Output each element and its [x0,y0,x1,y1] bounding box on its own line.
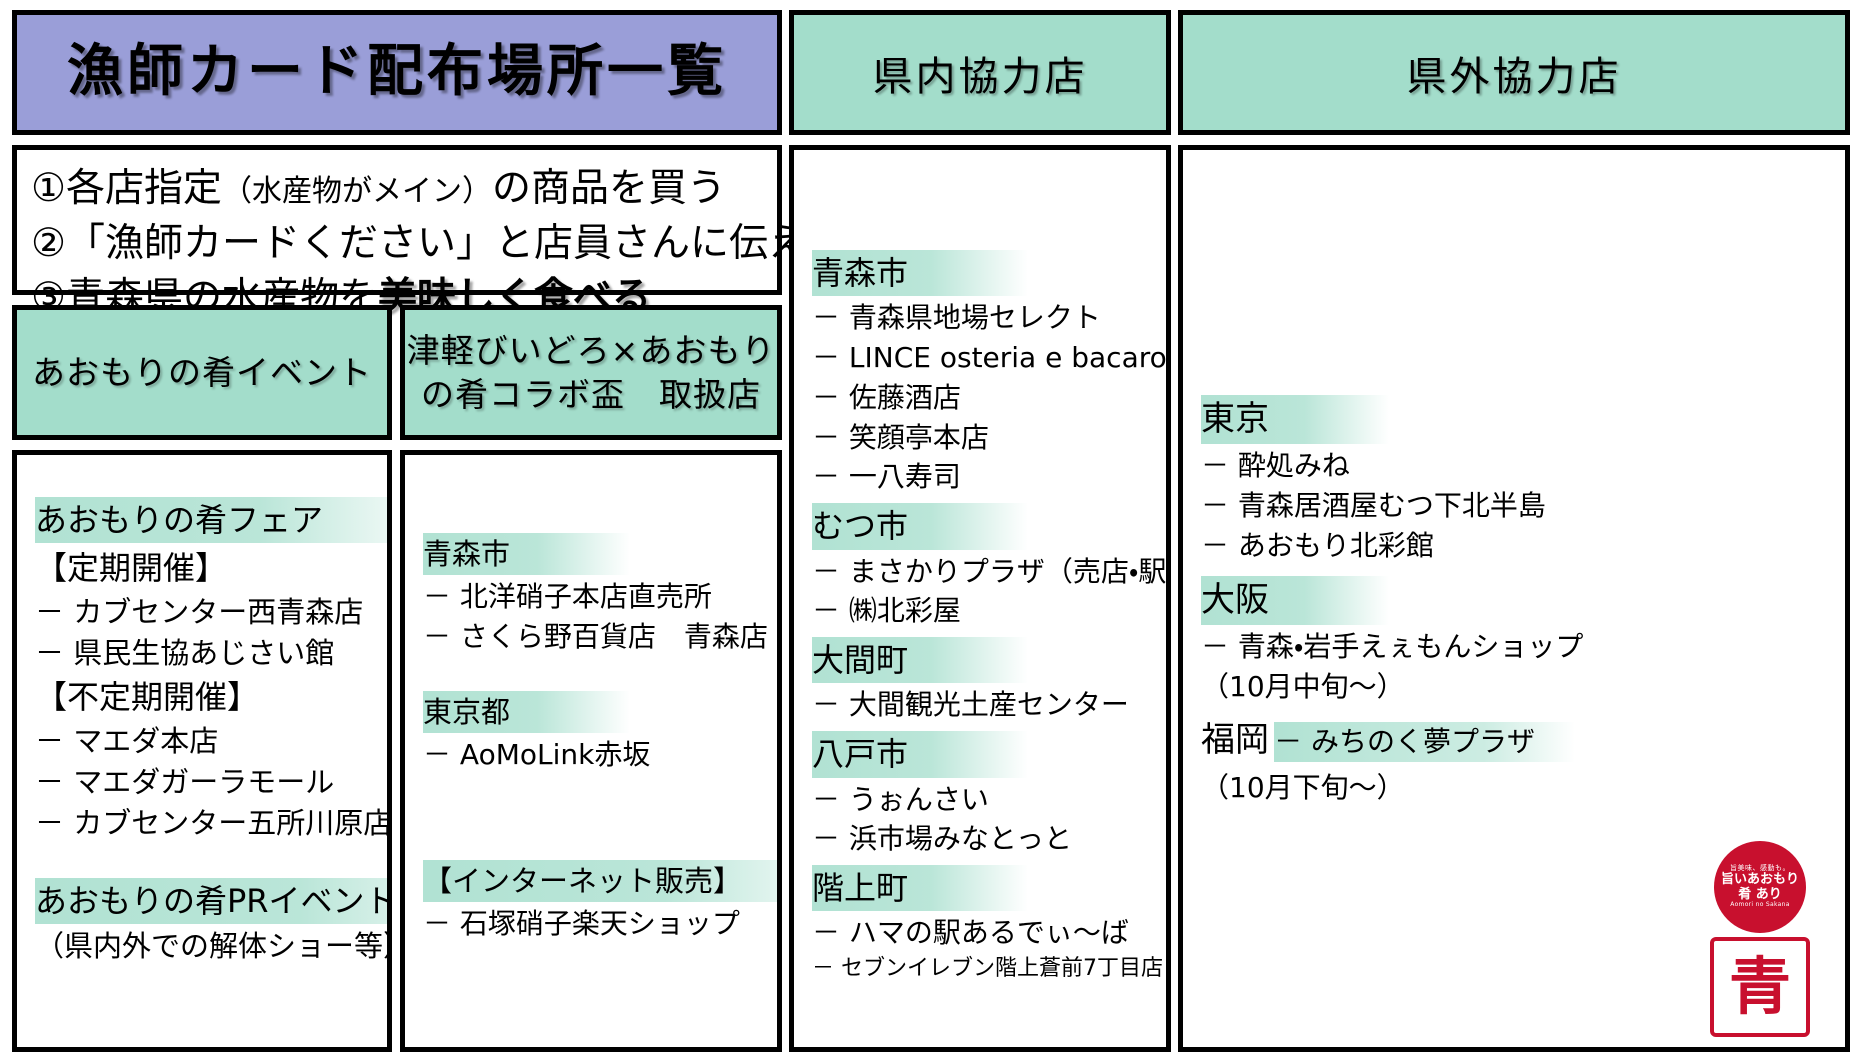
group-title: 青森市 [423,533,630,575]
spacer [423,826,759,860]
instruction-step-2: ②「漁師カードください」と店員さんに伝える [31,217,763,272]
event-fair-group: あおもりの肴フェア 【定期開催】 － カブセンター西青森店 － 県民生協あじさい… [35,497,369,844]
outpref-group-osaka: 大阪 － 青森・岩手えぇもんショップ （10月中旬～） [1201,576,1827,707]
subheader-glass-collab-label: 津軽びいどろ×あおもり の肴コラボ盃 取扱店 [407,329,776,416]
list-item: － カブセンター西青森店 [35,592,369,633]
inpref-group-hachinohe-city: 八戸市 － うぉんさい － 浜市場みなとっと [812,731,1148,859]
subheader-glass-line-2: の肴コラボ盃 取扱店 [421,375,761,414]
list-item: － 石塚硝子楽天ショップ [423,904,759,944]
list-item: － AoMoLink赤坂 [423,735,759,775]
inpref-group-mutsu-city: むつ市 － まさかりプラザ（売店・駅前店） － ㈱北彩屋 [812,503,1148,631]
group-title: 東京 [1201,395,1389,444]
panel-glass-collab-shops: 青森市 － 北洋硝子本店直売所 － さくら野百貨店 青森店 東京都 － AoMo… [400,450,782,1052]
spacer [423,657,759,691]
inpref-group-hashikami-town: 階上町 － ハマの駅あるでぃ～ば － セブンイレブン階上蒼前7丁目店 [812,865,1148,984]
outpref-group-fukuoka: 福岡 － みちのく夢プラザ （10月下旬～） [1201,716,1827,807]
column-header-in-prefecture-label: 県内協力店 [873,44,1088,102]
group-title: 東京都 [423,691,630,733]
step-2-text: 「漁師カードください」と店員さんに伝える [66,221,845,266]
event-irregular-label: 【不定期開催】 [35,674,369,720]
group-title: 大間町 [812,637,1028,683]
list-item: － カブセンター五所川原店 [35,803,369,844]
list-item: － セブンイレブン階上蒼前7丁目店 [812,953,1148,984]
list-item: － 青森・岩手えぇもんショップ [1201,627,1827,667]
list-item: － みちのく夢プラザ [1274,722,1575,762]
list-item: － まさかりプラザ（売店・駅前店） [812,552,1148,592]
list-item: － マエダ本店 [35,721,369,762]
list-item: － 浜市場みなとっと [812,819,1148,859]
page-title: 漁師カード配布場所一覧 [12,10,782,135]
outpref-osaka-note: （10月中旬～） [1201,667,1827,707]
subheader-event: あおもりの肴イベント [12,305,392,440]
seal-kanji: 青 [1714,941,1806,1033]
list-item: － マエダガーラモール 等 [35,762,369,803]
panel-in-prefecture-shops: 青森市 － 青森県地場セレクト － LINCE osteria e bacaro… [789,145,1171,1052]
outpref-group-tokyo: 東京 － 酔処みね － 青森居酒屋むつ下北半島 － あおもり北彩館 [1201,395,1827,566]
column-header-in-prefecture: 県内協力店 [789,10,1171,135]
list-item: － ハマの駅あるでぃ～ば [812,913,1148,953]
list-item: － 佐藤酒店 [812,378,1148,418]
inpref-group-aomori-city: 青森市 － 青森県地場セレクト － LINCE osteria e bacaro… [812,250,1148,497]
panel-out-of-prefecture-shops: 東京 － 酔処みね － 青森居酒屋むつ下北半島 － あおもり北彩館 大阪 － 青… [1178,145,1850,1052]
event-pr-group: あおもりの肴PRイベント （県内外での解体ショー等） [35,878,369,968]
logo-line-4: Aomori no Sakana [1730,902,1789,909]
glass-group-internet: 【インターネット販売】 － 石塚硝子楽天ショップ [423,860,759,944]
subheader-glass-line-1: 津軽びいどろ×あおもり [407,331,776,370]
spacer [35,844,369,878]
list-item: － 一八寿司 [812,457,1148,497]
list-item: － 北洋硝子本店直売所 [423,577,759,617]
list-item: － あおもり北彩館 [1201,526,1827,566]
event-regular-label: 【定期開催】 [35,545,369,591]
step-1-number: ① [31,166,66,211]
list-item: － ㈱北彩屋 [812,591,1148,631]
outpref-fukuoka-note: （10月下旬～） [1201,768,1827,808]
glass-group-aomori-city: 青森市 － 北洋硝子本店直売所 － さくら野百貨店 青森店 [423,533,759,657]
glass-group-tokyo: 東京都 － AoMoLink赤坂 [423,691,759,775]
list-item: － うぉんさい [812,780,1148,820]
glass-internet-label: 【インターネット販売】 [423,860,782,902]
column-header-out-prefecture: 県外協力店 [1178,10,1850,135]
list-item: － 笑顔亭本店 [812,418,1148,458]
subheader-event-label: あおもりの肴イベント [32,351,372,395]
spacer [423,774,759,826]
group-title: 福岡 [1201,716,1269,765]
poster-root: 漁師カード配布場所一覧 県内協力店 県外協力店 ①各店指定（水産物がメイン）の商… [0,0,1861,1063]
list-item: － 県民生協あじさい館 [35,633,369,674]
group-title: 八戸市 [812,731,1028,777]
umai-aomori-logo-icon: 旨美味、感動も。 旨いあおもり 肴 あり Aomori no Sakana [1714,841,1806,933]
step-1-paren: （水産物がメイン） [222,174,492,209]
event-fair-title: あおもりの肴フェア [35,497,392,543]
list-item: － 青森県地場セレクト [812,298,1148,338]
group-title: 大阪 [1201,576,1389,625]
subheader-glass-collab: 津軽びいどろ×あおもり の肴コラボ盃 取扱店 [400,305,782,440]
list-item: － 酔処みね [1201,446,1827,486]
instructions-panel: ①各店指定（水産物がメイン）の商品を買う ②「漁師カードください」と店員さんに伝… [12,145,782,295]
list-item: － LINCE osteria e bacaro [812,338,1148,378]
instruction-step-1: ①各店指定（水産物がメイン）の商品を買う [31,162,763,217]
list-item: － 青森居酒屋むつ下北半島 [1201,486,1827,526]
list-item: － 大間観光土産センター [812,685,1148,725]
brand-logo: 旨美味、感動も。 旨いあおもり 肴 あり Aomori no Sakana 青 [1697,841,1823,1037]
list-item: － さくら野百貨店 青森店 [423,617,759,657]
group-title: むつ市 [812,503,1028,549]
step-1-text-b: の商品を買う [492,166,726,211]
event-pr-note: （県内外での解体ショー等） [35,926,369,967]
main-title-text: 漁師カード配布場所一覧 [67,40,727,104]
logo-line-2: 旨いあおもり [1721,873,1799,888]
event-pr-title: あおもりの肴PRイベント [35,878,392,924]
inpref-group-oma-town: 大間町 － 大間観光土産センター [812,637,1148,725]
step-1-text-a: 各店指定 [66,166,222,211]
column-header-out-prefecture-label: 県外協力店 [1407,44,1622,102]
step-2-number: ② [31,221,66,266]
panel-aomori-sakana-events: あおもりの肴フェア 【定期開催】 － カブセンター西青森店 － 県民生協あじさい… [12,450,392,1052]
logo-line-3: 肴 あり [1738,888,1782,903]
group-title: 青森市 [812,250,1028,296]
aomori-seal-icon: 青 [1710,937,1810,1037]
group-title: 階上町 [812,865,1028,911]
